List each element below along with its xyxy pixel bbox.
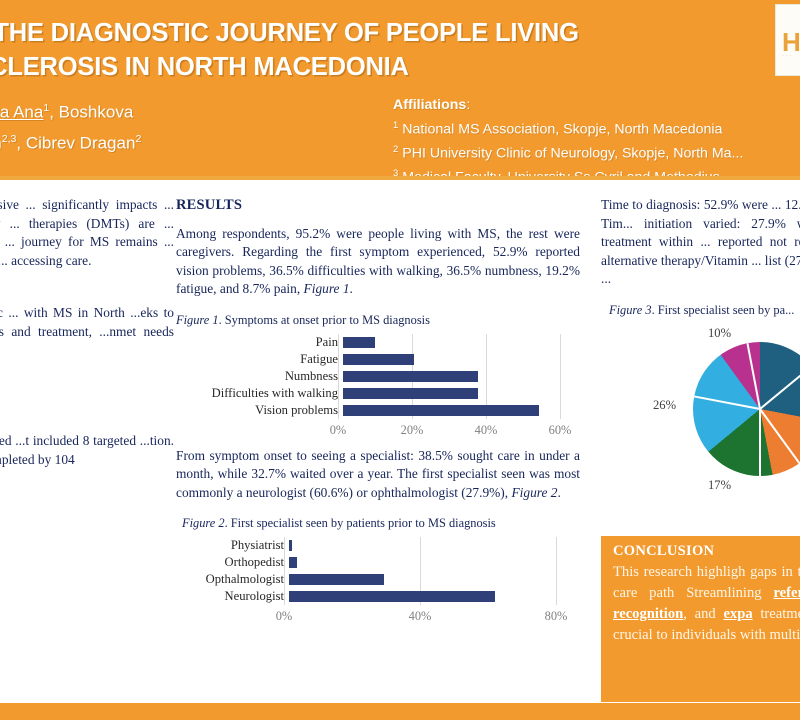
authors-list: ...mitrusheva Ana1, Boshkova ...la Cosku… (0, 95, 432, 156)
author-lead: ...mitrusheva Ana (0, 103, 43, 122)
bar-label: Difficulties with walking (176, 384, 343, 403)
conclusion-box: CONCLUSION This research highligh gaps i… (601, 536, 800, 702)
bar-track (289, 537, 561, 554)
x-tick: 20% (401, 421, 424, 440)
logo-subtext: · · · (782, 53, 791, 59)
conclusion-heading: CONCLUSION (613, 543, 800, 560)
bar-label: Opthalmologist (176, 570, 289, 589)
affiliations-block: Affiliations: 1 National MS Association,… (393, 95, 800, 180)
bar-numbness (343, 371, 478, 382)
right-column: Time to diagnosis: 52.9% were ... 12.5% … (601, 196, 800, 494)
specialist-paragraph: From symptom onset to seeing a specialis… (176, 447, 580, 503)
affiliations-label: Affiliations (393, 97, 466, 113)
figure-3-chart: 10% 26% 17% (601, 324, 800, 494)
x-tick: 0% (330, 421, 347, 440)
bar-track (289, 571, 561, 588)
bar-row: Orthopedist (176, 554, 580, 571)
bar-label: Fatigue (176, 350, 343, 369)
left-column: ... a chronic, progressive ... significa… (0, 196, 174, 481)
figure-3-caption-text: . First specialist seen by pa... (652, 303, 795, 317)
pie-label-green: 17% (708, 476, 731, 495)
poster-canvas: ...NG THE DIAGNOSTIC JOURNEY OF PEOPLE L… (0, 0, 800, 720)
figure-3-caption-label: Figure 3 (609, 303, 652, 317)
pie-label-lightblue: 26% (653, 396, 676, 415)
bar-row: Neurologist (176, 588, 580, 605)
results-paragraph-period: . (350, 281, 353, 296)
specialist-figure-reference: Figure 2 (511, 485, 557, 500)
bar-track (343, 351, 565, 368)
bar-fatigue (343, 354, 414, 365)
affiliation-item: 1 National MS Association, Skopje, North… (393, 116, 800, 140)
page-title: ...NG THE DIAGNOSTIC JOURNEY OF PEOPLE L… (0, 16, 688, 84)
figure-2-caption-text: . First specialist seen by patients prio… (225, 516, 496, 530)
bar-orthopedist (289, 557, 297, 568)
conclusion-body: This research highligh gaps in the MS ca… (613, 562, 800, 646)
bar-vision-problems (343, 405, 539, 416)
bar-track (343, 385, 565, 402)
x-tick: 80% (545, 607, 568, 626)
bar-label: Neurologist (176, 587, 289, 606)
affiliation-text: National MS Association, Skopje, North M… (402, 121, 722, 137)
bar-label: Pain (176, 333, 343, 352)
authors-line2-superscript-2: 2 (135, 133, 141, 145)
bar-difficulties-with-walking (343, 388, 478, 399)
figure-2-x-axis: 0% 40% 80% (176, 605, 580, 623)
affiliations-heading: Affiliations: (393, 95, 800, 116)
affiliation-item: 2 PHI University Clinic of Neurology, Sk… (393, 140, 800, 164)
conclusion-bold-recognition: recognition (613, 606, 683, 622)
methods-paragraph: ...onnaire was developed ...t included 8… (0, 432, 174, 469)
bar-row: Vision problems (176, 402, 580, 419)
figure-1-x-axis: 0% 20% 40% 60% (176, 419, 580, 437)
conclusion-line-1: This research highligh (613, 564, 745, 580)
bar-label: Physiatrist (176, 536, 289, 555)
affiliations-colon: : (466, 97, 470, 113)
affiliation-text: PHI University Clinic of Neurology, Skop… (402, 145, 743, 161)
aim-paragraph: ...rstand the diagnostic ... with MS in … (0, 304, 174, 360)
bar-track (343, 368, 565, 385)
authors-line1-rest: , Boshkova (49, 103, 133, 122)
conclusion-line-5: , and (683, 606, 723, 622)
bar-label: Numbness (176, 367, 343, 386)
figure-1-caption-label: Figure 1 (176, 313, 219, 327)
affiliation-superscript: 1 (393, 120, 398, 131)
bar-track (343, 402, 565, 419)
bar-row: Difficulties with walking (176, 385, 580, 402)
bar-row: Numbness (176, 368, 580, 385)
bar-track (289, 554, 561, 571)
figure-2-caption: Figure 2. First specialist seen by patie… (176, 514, 580, 533)
bar-physiatrist (289, 540, 292, 551)
bar-label: Vision problems (176, 401, 343, 420)
figure-1-caption-text: . Symptoms at onset prior to MS diagnosi… (219, 313, 430, 327)
bar-neurologist (289, 591, 495, 602)
x-tick: 40% (409, 607, 432, 626)
pie-label-magenta: 10% (708, 324, 731, 343)
specialist-paragraph-period: . (557, 485, 560, 500)
authors-line2-rest: , Cibrev Dragan (16, 133, 135, 152)
pie-slice-separators (693, 342, 800, 476)
introduction-paragraph: ... a chronic, progressive ... significa… (0, 196, 174, 270)
bar-row: Fatigue (176, 351, 580, 368)
results-heading: RESULTS (176, 196, 580, 215)
poster-header: ...NG THE DIAGNOSTIC JOURNEY OF PEOPLE L… (0, 0, 800, 180)
bar-track (289, 588, 561, 605)
results-figure-reference: Figure 1 (304, 281, 350, 296)
conclusion-line-7: individuals with multip (671, 627, 800, 643)
conclusion-bold-expanded: expa (723, 606, 752, 622)
poster-footer-bar (0, 703, 800, 720)
figure-2-chart: Physiatrist Orthopedist Opthalmologist N… (176, 537, 580, 623)
bar-row: Pain (176, 334, 580, 351)
bar-row: Physiatrist (176, 537, 580, 554)
middle-column: RESULTS Among respondents, 95.2% were pe… (176, 196, 580, 623)
bar-opthalmologist (289, 574, 384, 585)
bar-row: Opthalmologist (176, 571, 580, 588)
bar-label: Orthopedist (176, 553, 289, 572)
time-to-diagnosis-paragraph: Time to diagnosis: 52.9% were ... 12.5% … (601, 196, 800, 289)
affiliation-superscript: 2 (393, 144, 398, 155)
x-tick: 40% (475, 421, 498, 440)
authors-line2-superscript: 2,3 (2, 133, 17, 145)
x-tick: 60% (549, 421, 572, 440)
organization-logo: H · · · (775, 4, 800, 76)
figure-1-chart: Pain Fatigue Numbness Difficulties with … (176, 334, 580, 437)
figure-3-caption: Figure 3. First specialist seen by pa... (601, 301, 800, 320)
header-divider (0, 176, 800, 180)
x-tick: 0% (276, 607, 293, 626)
bar-track (343, 334, 565, 351)
conclusion-bold-referral: referral (773, 585, 800, 601)
results-paragraph-text: Among respondents, 95.2% were people liv… (176, 226, 580, 297)
figure-2-caption-label: Figure 2 (182, 516, 225, 530)
bar-pain (343, 337, 375, 348)
results-paragraph: Among respondents, 95.2% were people liv… (176, 225, 580, 299)
conclusion-line-3: Streamlining (686, 585, 773, 601)
figure-1-caption: Figure 1. Symptoms at onset prior to MS … (176, 311, 580, 330)
